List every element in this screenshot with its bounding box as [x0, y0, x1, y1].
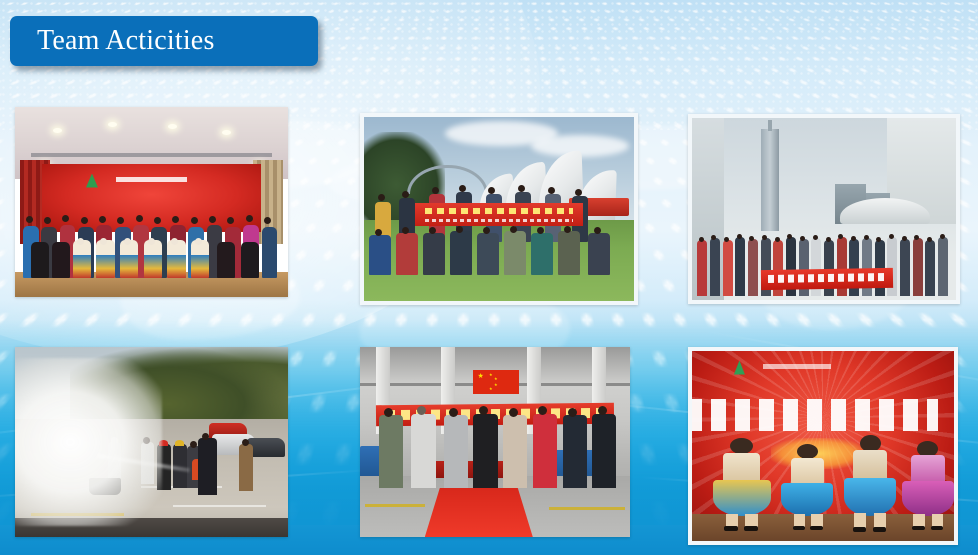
person-head — [242, 439, 249, 446]
dancer-headdress — [148, 238, 155, 245]
dancer-shoe — [810, 526, 823, 530]
person — [262, 227, 278, 278]
person-head — [864, 235, 869, 240]
person-head — [117, 217, 124, 224]
person-award-recipient — [444, 415, 468, 487]
person-standing — [379, 415, 403, 487]
person-head — [594, 227, 601, 234]
person-head — [518, 185, 525, 192]
dancer-shoe — [853, 527, 866, 532]
dancer-skirt — [713, 480, 771, 516]
dancer — [781, 433, 833, 517]
yellow-floor-line — [365, 504, 424, 507]
dancer-headdress — [124, 238, 131, 245]
person-head — [136, 215, 143, 222]
person-head — [378, 194, 385, 201]
person-head — [81, 217, 88, 224]
page-title: Team Acticities — [10, 27, 215, 55]
person-head — [459, 185, 466, 192]
photo-content — [692, 118, 956, 300]
person-seated — [588, 233, 610, 275]
person-head — [154, 217, 161, 224]
dancer-torso — [853, 450, 887, 482]
person-operating-extinguisher — [198, 438, 217, 495]
slide-canvas: Team Acticities — [0, 0, 978, 555]
dancer-headdress — [77, 238, 84, 245]
person-seated — [396, 233, 418, 275]
dancer-headdress — [171, 238, 178, 245]
person-head — [62, 215, 69, 222]
parking-line — [173, 505, 266, 507]
dancer-costume — [73, 240, 91, 278]
title-banner: Team Acticities — [10, 16, 318, 66]
person-watching — [239, 444, 253, 492]
person-head — [191, 217, 198, 224]
person-head — [190, 441, 197, 448]
gallery-photo-1[interactable] — [15, 107, 288, 297]
person — [748, 239, 758, 296]
dancer-headdress — [100, 238, 107, 245]
person — [900, 239, 910, 296]
person-seated — [369, 235, 391, 275]
person-head — [826, 237, 831, 242]
person — [735, 237, 745, 296]
person-award-recipient — [503, 415, 527, 487]
person-head — [172, 216, 179, 223]
photo-content — [692, 351, 954, 541]
red-anniversary-banner — [760, 268, 892, 290]
dark-car — [247, 438, 285, 457]
dancer-shoe — [724, 526, 738, 531]
group-of-people — [20, 206, 282, 278]
ceiling-light — [168, 124, 177, 129]
photo-content — [364, 117, 634, 301]
dancer-shoe — [793, 526, 806, 530]
person-kneeling — [31, 242, 49, 278]
dancer-costume — [191, 240, 209, 278]
person — [723, 240, 733, 296]
gallery-photo-5[interactable]: ★ ★ ★ ★ ★ — [360, 347, 630, 537]
person-seated — [558, 231, 580, 275]
person-head — [564, 226, 571, 233]
person-head — [246, 215, 253, 222]
person-seated — [450, 231, 472, 275]
dancer — [713, 425, 771, 516]
photo-content — [15, 107, 288, 297]
dancer-skirt — [902, 481, 954, 516]
dancer-headdress — [195, 238, 202, 245]
harbour-bridge — [407, 165, 488, 194]
dancer — [844, 421, 896, 516]
banner-chinese-text — [425, 208, 572, 214]
person-head — [940, 234, 945, 239]
person — [697, 240, 707, 296]
dancer — [902, 429, 954, 516]
person-standing — [411, 414, 435, 488]
person-head — [99, 216, 106, 223]
dancer-costume — [120, 240, 138, 278]
dancer-skirt — [781, 483, 833, 516]
company-name-text-strip — [763, 364, 831, 369]
dancer-costume — [144, 240, 162, 278]
person-head — [456, 226, 463, 233]
person-seated — [504, 231, 526, 275]
person-seated — [531, 233, 553, 275]
ceiling-light — [53, 128, 62, 133]
person-seated — [423, 233, 445, 275]
chinese-national-flag: ★ ★ ★ ★ ★ — [473, 370, 519, 395]
white-smoke-cloud — [15, 358, 162, 525]
person-head — [227, 217, 234, 224]
person-head — [26, 216, 33, 223]
gallery-photo-2[interactable] — [360, 113, 638, 305]
backdrop-text-strip — [116, 177, 187, 182]
dancer-torso — [723, 453, 760, 484]
banner-pinyin-text — [425, 219, 572, 222]
dancer-torso — [791, 458, 825, 486]
photo-content: ★ ★ ★ ★ ★ — [360, 347, 630, 537]
gallery-photo-3[interactable] — [688, 114, 960, 304]
dancer-shoe — [873, 527, 886, 532]
person-head — [209, 216, 216, 223]
person — [913, 238, 923, 296]
person-head — [402, 191, 409, 198]
person-standing — [563, 415, 587, 487]
person-head — [510, 226, 517, 233]
person-kneeling — [217, 242, 235, 278]
person-head — [432, 187, 439, 194]
dancer-head — [730, 438, 753, 454]
yellow-floor-line — [549, 507, 625, 510]
red-banner — [415, 203, 582, 225]
person-kneeling — [52, 242, 70, 278]
red-carpet — [425, 488, 533, 537]
person — [925, 240, 935, 296]
person-head — [375, 229, 382, 236]
person-seated — [477, 233, 499, 275]
person-head — [509, 408, 518, 417]
person-award-recipient — [473, 414, 497, 488]
dancer-skirt — [844, 478, 896, 516]
tower-spire — [768, 120, 772, 131]
dancer-shoe — [912, 526, 925, 530]
photo-content — [15, 347, 288, 537]
person-award-recipient — [533, 414, 557, 488]
person-head — [44, 217, 51, 224]
yellow-safety-helmet — [175, 440, 184, 446]
gallery-photo-4[interactable] — [15, 347, 288, 537]
gallery-photo-6[interactable] — [688, 347, 958, 545]
dancer-shoe — [744, 526, 758, 531]
dancer-costume — [167, 240, 185, 278]
person-head — [598, 406, 607, 415]
person-kneeling — [241, 242, 259, 278]
person — [710, 238, 720, 296]
dancer-costume — [96, 240, 114, 278]
person-head — [902, 236, 907, 241]
dancer-shoe — [931, 526, 944, 530]
person-head — [548, 187, 555, 194]
ceiling-beam — [31, 153, 271, 157]
person — [938, 237, 948, 296]
bridge-arch — [407, 165, 488, 194]
person-head — [575, 189, 582, 196]
banner-chinese-text — [767, 273, 886, 283]
person-head — [264, 217, 271, 224]
person-standing — [592, 414, 616, 488]
